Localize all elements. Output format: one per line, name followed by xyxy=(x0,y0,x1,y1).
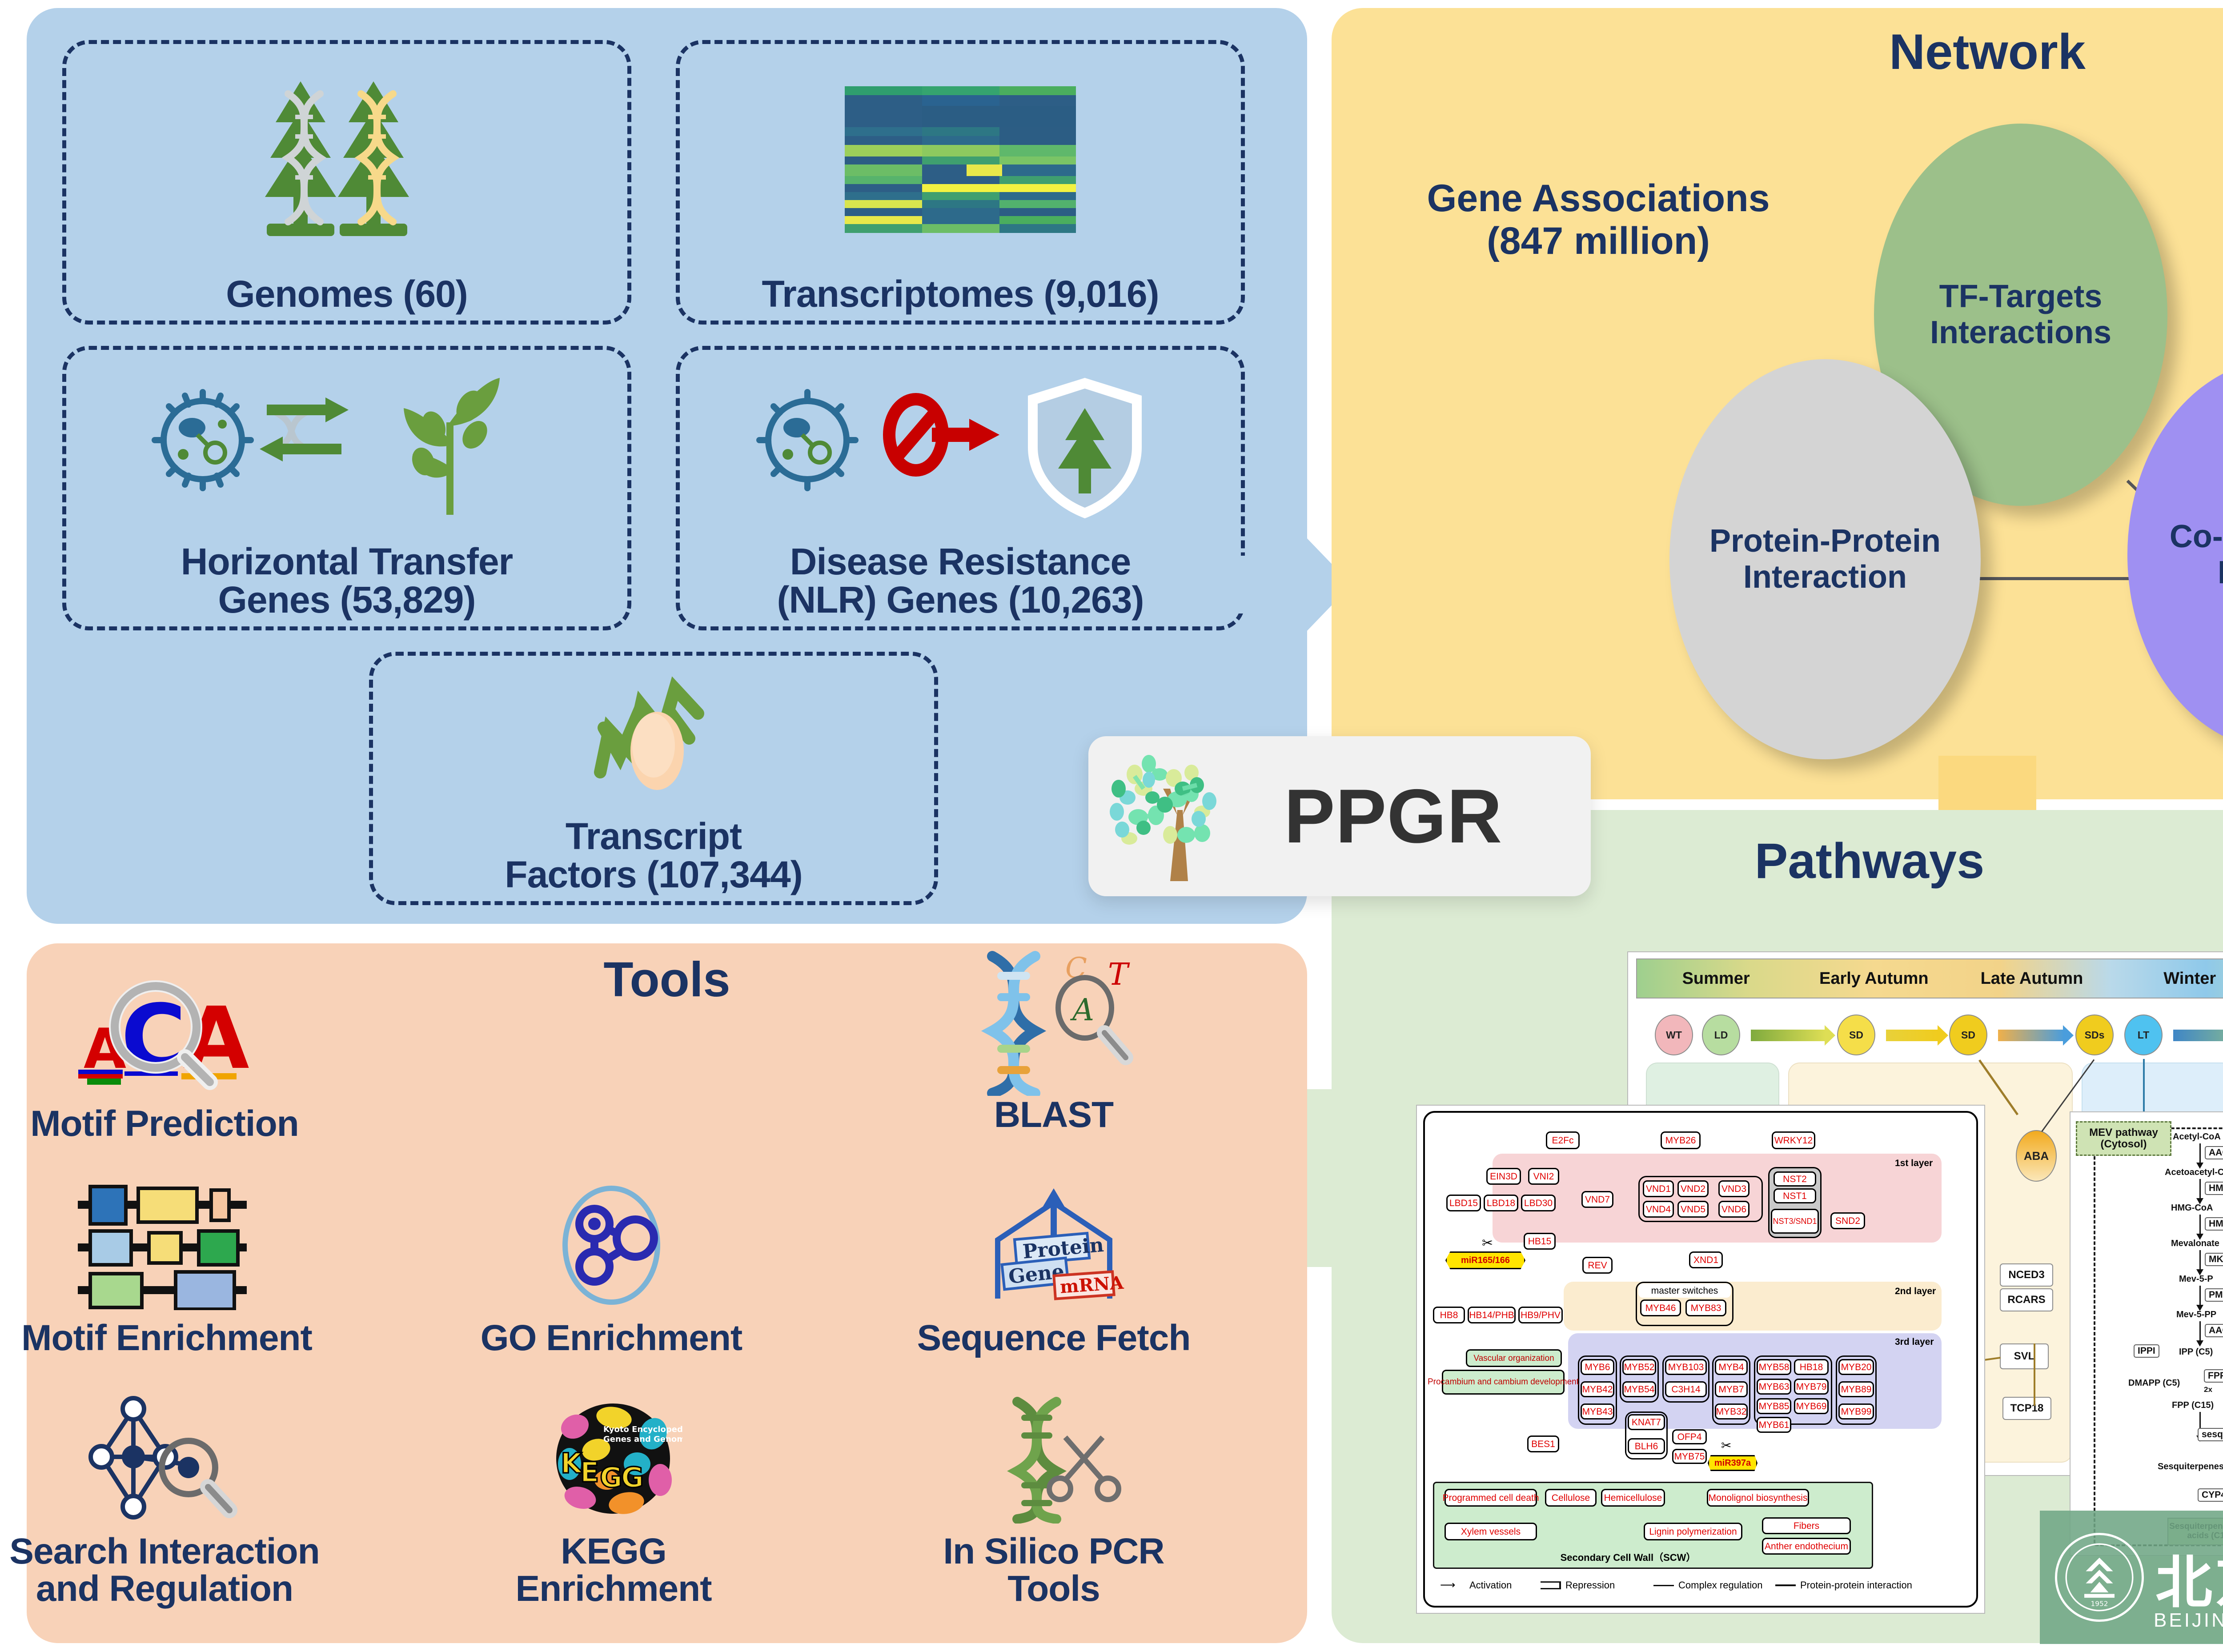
tool-blast[interactable]: C T A BLAST xyxy=(863,951,1245,1134)
gene-myb85[interactable]: MYB85 xyxy=(1757,1398,1791,1414)
card-disease-resistance-genes[interactable]: Disease Resistance (NLR) Genes (10,263) xyxy=(676,346,1245,630)
bfu-name-cn: 北京林业大学 xyxy=(2155,1536,2223,1619)
gene-myb61[interactable]: MYB61 xyxy=(1757,1417,1791,1433)
gene-myb103[interactable]: MYB103 xyxy=(1665,1359,1707,1375)
gene-vnd1[interactable]: VND1 xyxy=(1643,1180,1674,1197)
bfu-seal-year: 1952 xyxy=(2091,1600,2108,1608)
svg-text:T: T xyxy=(1108,957,1130,992)
stage-node-sd-early[interactable]: SD xyxy=(1837,1014,1875,1055)
network-title: Network xyxy=(1332,23,2223,80)
met-hmg-coa: HMG-CoA xyxy=(2171,1203,2213,1213)
repression-bar-swatch xyxy=(1541,1581,1561,1589)
tool-go-enrichment[interactable]: GO Enrichment xyxy=(420,1175,803,1357)
sequence-logo-magnifier-icon: A C A xyxy=(62,960,267,1103)
box-nced3[interactable]: NCED3 xyxy=(2000,1263,2053,1287)
node-protein-protein-interaction[interactable]: Protein-Protein Interaction xyxy=(1669,359,1981,759)
svg-text:G: G xyxy=(621,1461,644,1494)
ppgr-logo[interactable]: PPGR xyxy=(1088,736,1591,896)
gene-bes1[interactable]: BES1 xyxy=(1527,1435,1559,1452)
season-bar: Summer Early Autumn Late Autumn Winter S… xyxy=(1636,958,2223,998)
gene-hb18[interactable]: HB18 xyxy=(1794,1359,1829,1375)
beijing-forestry-university-watermark: 1952 北京林业大学 BEIJING FORESTRY UNIVERSITY … xyxy=(2040,1511,2223,1644)
gene-nst3-snd1[interactable]: NST3/SND1 xyxy=(1771,1209,1819,1234)
output-anther-endothecium[interactable]: Anther endothecium xyxy=(1762,1538,1851,1555)
met-sesquiterpenes: Sesquiterpenes (C15) xyxy=(2158,1462,2223,1472)
arrow-mev-3 xyxy=(2199,1215,2201,1234)
gene-myb43[interactable]: MYB43 xyxy=(1581,1403,1614,1419)
enzyme-mk[interactable]: MK xyxy=(2205,1253,2223,1266)
card-transcriptomes[interactable]: Transcriptomes (9,016) xyxy=(676,40,1245,325)
gene-myb46[interactable]: MYB46 xyxy=(1640,1299,1681,1316)
gene-associations-label: Gene Associations (847 million) xyxy=(1349,177,1847,263)
stage-node-ld-summer[interactable]: LD xyxy=(1702,1014,1740,1055)
gene-myb7[interactable]: MYB7 xyxy=(1715,1381,1748,1397)
enzyme-sesqui-tps[interactable]: sesqui-TPS xyxy=(2198,1428,2223,1441)
output-cellulose[interactable]: Cellulose xyxy=(1545,1489,1597,1507)
stage-node-wt-summer[interactable]: WT xyxy=(1655,1014,1693,1055)
tool-kegg-enrichment-label: KEGG Enrichment xyxy=(515,1533,711,1608)
gene-myb4[interactable]: MYB4 xyxy=(1715,1359,1748,1375)
tool-in-silico-pcr-label: In Silico PCR Tools xyxy=(943,1533,1164,1608)
tool-motif-prediction-label: Motif Prediction xyxy=(30,1105,299,1143)
gene-myb83[interactable]: MYB83 xyxy=(1685,1299,1726,1316)
dna-scissors-icon xyxy=(978,1388,1129,1530)
box-tcp18[interactable]: TCP18 xyxy=(2002,1397,2051,1420)
season-label-late-autumn: Late Autumn xyxy=(1953,969,2111,988)
met-mevalonate: Mevalonate xyxy=(2171,1239,2219,1249)
enzyme-fpps[interactable]: FPPS xyxy=(2204,1369,2223,1383)
gene-myb6[interactable]: MYB6 xyxy=(1581,1359,1614,1375)
tool-in-silico-pcr[interactable]: In Silico PCR Tools xyxy=(863,1388,1245,1608)
arrow-mev-4 xyxy=(2199,1250,2201,1270)
enzyme-hmgs[interactable]: HMGS xyxy=(2205,1182,2223,1195)
arrow-mev-6 xyxy=(2199,1321,2201,1341)
gene-blh6[interactable]: BLH6 xyxy=(1628,1438,1665,1454)
layer-3-label: 3rd layer xyxy=(1895,1337,1934,1347)
legend-complex-regulation: Complex regulation xyxy=(1653,1580,1763,1591)
activation-arrow-swatch: ⟶ xyxy=(1440,1580,1465,1591)
bfu-seal-icon: 1952 xyxy=(2055,1533,2144,1622)
layer-2-region xyxy=(1564,1282,1942,1331)
met-dmapp-c5-cytosol: DMAPP (C5) xyxy=(2128,1378,2180,1388)
arrow-mev-2 xyxy=(2199,1179,2201,1199)
dna-protein-icon xyxy=(373,656,934,817)
met-mev-5-p: Mev-5-P xyxy=(2179,1274,2213,1284)
season-label-winter: Winter xyxy=(2111,969,2223,988)
tool-sequence-fetch-label: Sequence Fetch xyxy=(917,1319,1191,1357)
cytosol-boundary xyxy=(2094,1127,2223,1546)
enzyme-pmk[interactable]: PMK xyxy=(2205,1288,2223,1302)
complex-regulation-swatch xyxy=(1653,1585,1674,1586)
node-aba[interactable]: ABA xyxy=(2016,1130,2057,1182)
gene-myb26[interactable]: MYB26 xyxy=(1661,1131,1701,1149)
season-arrow-3 xyxy=(1998,1030,2064,1041)
gene-myb42[interactable]: MYB42 xyxy=(1581,1381,1614,1397)
met-ipp-c5-cytosol: IPP (C5) xyxy=(2179,1347,2213,1357)
arrow-mev-5 xyxy=(2199,1286,2201,1305)
card-horizontal-transfer-genes[interactable]: Horizontal Transfer Genes (53,829) xyxy=(62,346,631,630)
legend-activation: ⟶ Activation xyxy=(1440,1580,1512,1591)
network-panel: Network Gene Associations (847 million) … xyxy=(1332,8,2223,799)
gene-lbd15[interactable]: LBD15 xyxy=(1446,1195,1481,1211)
stage-node-sds[interactable]: SDs xyxy=(2075,1014,2114,1055)
box-rcars[interactable]: RCARS xyxy=(2000,1288,2053,1311)
ppgr-wordmark: PPGR xyxy=(1284,772,1502,860)
arrow-mev-1 xyxy=(2199,1143,2201,1163)
output-programmed-cell-death[interactable]: Programmed cell death xyxy=(1445,1489,1537,1507)
met-acetyl-coa: Acetyl-CoA xyxy=(2173,1132,2221,1142)
enzyme-aact-2[interactable]: AACT xyxy=(2205,1324,2223,1337)
gene-c3h14[interactable]: C3H14 xyxy=(1665,1381,1707,1397)
tool-motif-enrichment[interactable]: Motif Enrichment xyxy=(0,1175,358,1357)
kegg-logo-icon: KEGG Kyoto Encyclopedia ofGenes and Geno… xyxy=(545,1388,682,1530)
gene-myb52[interactable]: MYB52 xyxy=(1622,1359,1656,1375)
card-transcript-factors-label: Transcript Factors (107,344) xyxy=(505,817,802,894)
virus-blocked-shield-icon xyxy=(680,350,1241,542)
gene-lbd18[interactable]: LBD18 xyxy=(1484,1195,1518,1211)
scw-regulatory-network-figure[interactable]: 1st layer 2nd layer 3rd layer E2Fc MYB26… xyxy=(1416,1105,1985,1614)
svg-text:Kyoto Encyclopedia of: Kyoto Encyclopedia of xyxy=(603,1425,682,1434)
gene-myb58[interactable]: MYB58 xyxy=(1757,1359,1791,1375)
svg-text:mRNA: mRNA xyxy=(1059,1272,1125,1298)
card-transcriptomes-label: Transcriptomes (9,016) xyxy=(762,275,1159,313)
mev-pathway-tag: MEV pathway(Cytosol) xyxy=(2076,1121,2171,1156)
pathways-title: Pathways xyxy=(1625,832,2114,890)
season-arrow-1 xyxy=(1751,1030,1826,1041)
master-switches-label: master switches xyxy=(1638,1283,1731,1298)
card-transcript-factors[interactable]: Transcript Factors (107,344) xyxy=(369,652,938,905)
terpene-biosynthesis-figure[interactable]: MEV pathway(Cytosol) MEP pathway(Plastid… xyxy=(2070,1111,2223,1556)
gene-myb79[interactable]: MYB79 xyxy=(1794,1379,1829,1395)
gene-vnd6[interactable]: VND6 xyxy=(1718,1201,1750,1218)
card-disease-resistance-genes-label: Disease Resistance (NLR) Genes (10,263) xyxy=(777,542,1144,619)
card-horizontal-transfer-genes-label: Horizontal Transfer Genes (53,829) xyxy=(181,542,513,619)
protein-gene-mrna-icon: Protein Gene mRNA xyxy=(978,1175,1129,1317)
gene-nst1[interactable]: NST1 xyxy=(1774,1188,1816,1203)
gene-hb8[interactable]: HB8 xyxy=(1433,1307,1465,1323)
gene-myb99[interactable]: MYB99 xyxy=(1838,1403,1874,1419)
gene-wrky12[interactable]: WRKY12 xyxy=(1772,1131,1815,1149)
edge-aba-to-svl xyxy=(2034,1343,2035,1406)
svg-text:K: K xyxy=(561,1447,583,1480)
network-magnifier-icon xyxy=(80,1388,249,1530)
gene-vnd3[interactable]: VND3 xyxy=(1718,1180,1750,1197)
met-acetoacetyl-coa: Acetoacetyl-CoA xyxy=(2165,1167,2223,1178)
svg-text:G: G xyxy=(600,1461,622,1494)
enzyme-aact-1[interactable]: AACT xyxy=(2205,1146,2223,1159)
output-xylem-vessels[interactable]: Xylem vessels xyxy=(1445,1523,1537,1540)
virus-to-plant-transfer-icon xyxy=(66,350,627,542)
layer-2-label: 2nd layer xyxy=(1895,1286,1936,1297)
tool-motif-prediction[interactable]: A C A Motif Prediction xyxy=(0,960,356,1143)
go-logo-icon xyxy=(545,1175,678,1317)
gene-e2fc[interactable]: E2Fc xyxy=(1546,1131,1580,1149)
gene-vni2[interactable]: VNI2 xyxy=(1528,1168,1559,1185)
motif-track-icon xyxy=(69,1175,265,1317)
tool-kegg-enrichment[interactable]: KEGG Kyoto Encyclopedia ofGenes and Geno… xyxy=(422,1388,805,1608)
gene-ein3d[interactable]: EIN3D xyxy=(1486,1168,1521,1185)
heatmap-icon xyxy=(680,44,1241,275)
stoich-2x: 2x xyxy=(2204,1385,2212,1394)
gene-ofp4[interactable]: OFP4 xyxy=(1672,1429,1707,1444)
layer-1-label: 1st layer xyxy=(1895,1158,1933,1169)
ppi-line-swatch xyxy=(1775,1584,1796,1586)
gene-myb32[interactable]: MYB32 xyxy=(1715,1403,1748,1419)
dna-magnifier-base-icon: C T A xyxy=(960,951,1147,1094)
gene-vnd4[interactable]: VND4 xyxy=(1643,1201,1674,1218)
output-fibers[interactable]: Fibers xyxy=(1762,1517,1851,1534)
gene-myb63[interactable]: MYB63 xyxy=(1757,1379,1791,1395)
enzyme-cyp450-1[interactable]: CYP450 xyxy=(2198,1488,2223,1502)
enzyme-ippi-cytosol[interactable]: IPPI xyxy=(2134,1344,2159,1358)
gene-hb14-phb[interactable]: HB14/PHB xyxy=(1468,1307,1516,1323)
mirna-165-166[interactable]: miR165/166 xyxy=(1445,1251,1525,1269)
season-arrow-2 xyxy=(1886,1030,1938,1041)
card-genomes-label: Genomes (60) xyxy=(226,275,468,313)
gene-myb89[interactable]: MYB89 xyxy=(1838,1381,1874,1397)
gene-hb9-phv[interactable]: HB9/PHV xyxy=(1518,1307,1563,1323)
svg-text:A: A xyxy=(1070,993,1094,1028)
tool-blast-label: BLAST xyxy=(994,1096,1113,1134)
tool-search-interaction-regulation-label: Search Interaction and Regulation xyxy=(9,1533,319,1608)
gene-myb75[interactable]: MYB75 xyxy=(1672,1449,1707,1464)
season-arrow-4 xyxy=(2173,1030,2223,1041)
tree-network-logo-icon xyxy=(1088,750,1266,883)
gene-vnd5[interactable]: VND5 xyxy=(1677,1201,1709,1218)
season-label-summer: Summer xyxy=(1637,969,1795,988)
gene-lbd30[interactable]: LBD30 xyxy=(1521,1195,1556,1211)
gene-vnd2[interactable]: VND2 xyxy=(1677,1180,1709,1197)
output-vascular-organization[interactable]: Vascular organization xyxy=(1466,1349,1562,1367)
tool-sequence-fetch[interactable]: Protein Gene mRNA Sequence Fetch xyxy=(863,1175,1245,1357)
gene-myb20[interactable]: MYB20 xyxy=(1838,1359,1874,1375)
gene-snd2[interactable]: SND2 xyxy=(1830,1212,1865,1229)
tool-motif-enrichment-label: Motif Enrichment xyxy=(21,1319,312,1357)
edge-ppi-coex xyxy=(1963,577,2141,580)
bfu-name-en: BEIJING FORESTRY UNIVERSITY xyxy=(2154,1609,2223,1632)
tool-search-interaction-regulation[interactable]: Search Interaction and Regulation xyxy=(0,1388,356,1608)
tool-go-enrichment-label: GO Enrichment xyxy=(481,1319,742,1357)
svg-text:Genes and Genomes: Genes and Genomes xyxy=(603,1435,682,1444)
met-mev-5-pp: Mev-5-PP xyxy=(2176,1310,2216,1320)
dna-trees-icon xyxy=(66,44,627,275)
mirna-397a[interactable]: miR397a xyxy=(1708,1455,1758,1471)
stage-node-lt[interactable]: LT xyxy=(2124,1014,2163,1055)
scw-title: Secondary Cell Wall（SCW） xyxy=(1550,1550,1706,1565)
legend-protein-protein-interaction: Protein-protein interaction xyxy=(1775,1580,1912,1591)
gene-rev[interactable]: REV xyxy=(1582,1257,1613,1274)
output-procambium-development[interactable]: Procambium and cambium development xyxy=(1442,1370,1565,1395)
stage-node-sd-late[interactable]: SD xyxy=(1949,1014,1987,1055)
met-fpp-c15: FPP (C15) xyxy=(2172,1400,2214,1411)
output-lignin-polymerization[interactable]: Lignin polymerization xyxy=(1644,1523,1742,1540)
tools-panel: Tools A C A xyxy=(27,943,1307,1643)
gene-vnd7[interactable]: VND7 xyxy=(1581,1191,1613,1208)
scissors-icon-mir165: ✂ xyxy=(1482,1235,1493,1251)
svg-text:E: E xyxy=(580,1456,599,1488)
enzyme-hmgr[interactable]: HMGR xyxy=(2205,1217,2223,1231)
scissors-icon-mir397: ✂ xyxy=(1721,1438,1731,1453)
gene-nst2[interactable]: NST2 xyxy=(1774,1171,1816,1187)
output-hemicellulose[interactable]: Hemicellulose xyxy=(1601,1489,1665,1507)
gene-myb54[interactable]: MYB54 xyxy=(1622,1381,1656,1397)
season-label-early-autumn: Early Autumn xyxy=(1795,969,1953,988)
output-monolignol-biosynthesis[interactable]: Monolignol biosynthesis xyxy=(1707,1489,1809,1507)
gene-knat7[interactable]: KNAT7 xyxy=(1628,1414,1665,1430)
legend-repression: Repression xyxy=(1541,1580,1615,1591)
gene-myb69[interactable]: MYB69 xyxy=(1794,1398,1829,1414)
card-genomes[interactable]: Genomes (60) xyxy=(62,40,631,325)
box-svl[interactable]: SVL xyxy=(2000,1343,2049,1369)
gene-hb15[interactable]: HB15 xyxy=(1524,1233,1556,1250)
gene-xnd1[interactable]: XND1 xyxy=(1689,1251,1723,1268)
